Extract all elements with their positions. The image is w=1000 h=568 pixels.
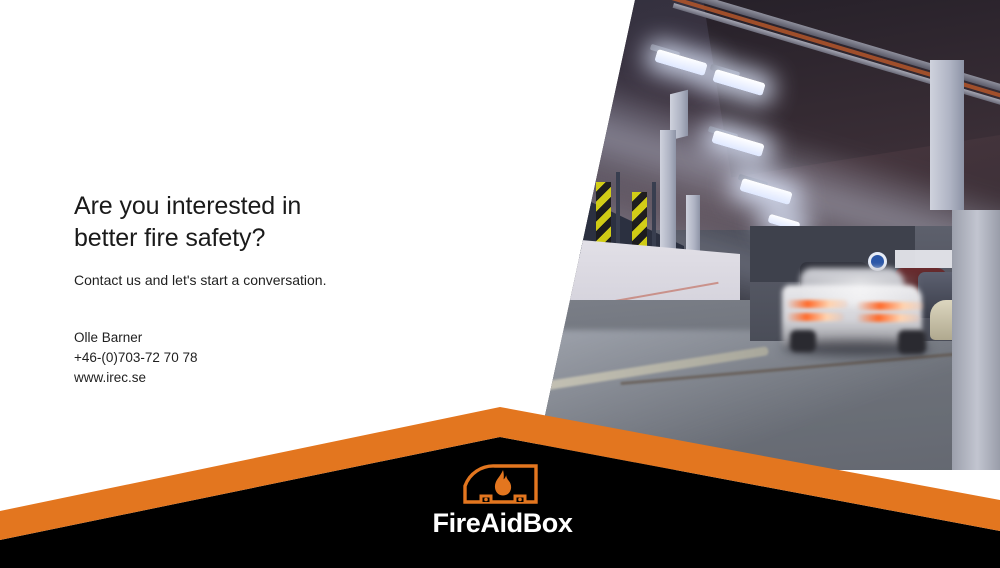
slide-text-content: Are you interested in better fire safety… <box>74 190 474 254</box>
parking-garage-photo <box>500 0 1000 470</box>
tail-light-icon <box>856 314 920 322</box>
brand-wordmark: FireAidBox <box>415 508 590 538</box>
tail-light-icon <box>786 300 848 308</box>
subheading: Contact us and let's start a conversatio… <box>74 270 326 290</box>
support-pillar <box>500 86 522 266</box>
window-mullion <box>578 160 582 256</box>
support-pillar <box>660 130 676 260</box>
brand-logo[interactable]: FireAidBox <box>415 462 590 538</box>
contact-phone[interactable]: +46-(0)703-72 70 78 <box>74 348 197 368</box>
car-wheel <box>898 330 926 354</box>
page-title: Are you interested in better fire safety… <box>74 190 474 254</box>
contact-website[interactable]: www.irec.se <box>74 368 197 388</box>
hazard-stripe-column-icon <box>632 192 647 250</box>
headline-line-2: better fire safety? <box>74 224 265 252</box>
contact-block: Olle Barner +46-(0)703-72 70 78 www.irec… <box>74 328 197 388</box>
foreground-pillar <box>952 210 1000 470</box>
headline-line-1: Are you interested in <box>74 192 301 220</box>
fire-box-trailer-icon <box>460 462 546 506</box>
presentation-slide: Are you interested in better fire safety… <box>0 0 1000 568</box>
support-pillar <box>930 60 964 210</box>
hazard-stripe-column-icon <box>558 172 573 242</box>
car-wheel <box>790 330 816 352</box>
window-mullion <box>538 150 542 250</box>
tail-light-icon <box>786 313 844 321</box>
hazard-stripe-column-icon <box>596 182 611 246</box>
hazard-stripe-column-icon <box>518 162 533 236</box>
tail-light-icon <box>856 302 924 310</box>
contact-name: Olle Barner <box>74 328 197 348</box>
support-pillar-cap <box>518 90 544 154</box>
